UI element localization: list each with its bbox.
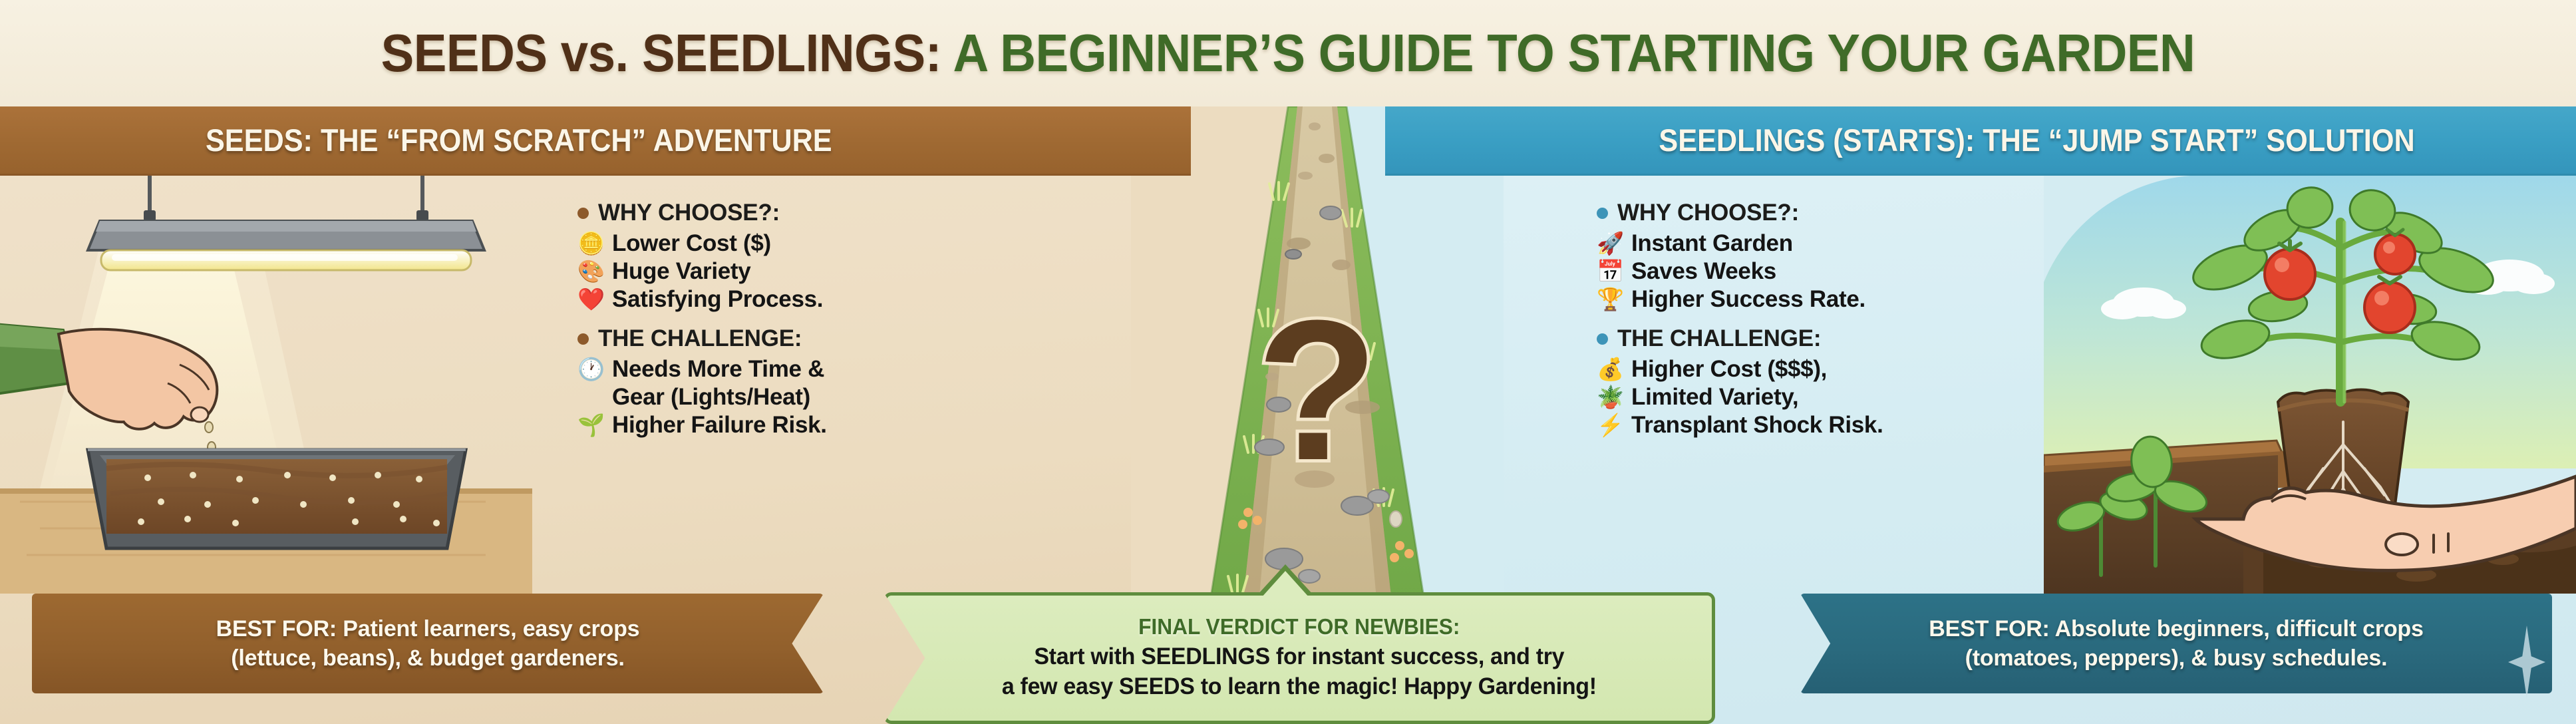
seeds-bullet-list: WHY CHOOSE?: 🪙 Lower Cost ($) 🎨 Huge Var… bbox=[577, 200, 1003, 451]
list-item-label: Lower Cost ($) bbox=[612, 230, 1003, 258]
verdict-line-2: a few easy SEEDS to learn the magic! Hap… bbox=[1002, 672, 1597, 702]
group-heading-label: THE CHALLENGE: bbox=[1617, 325, 1821, 352]
group-heading-label: WHY CHOOSE?: bbox=[598, 200, 780, 226]
seedling-icon: 🌱 bbox=[577, 411, 604, 439]
list-item-label: Higher Failure Risk. bbox=[612, 411, 1003, 439]
group-heading-row: WHY CHOOSE?: bbox=[1597, 200, 2102, 226]
seedlings-why-choose-group: WHY CHOOSE?: 🚀 Instant Garden 📅 Saves We… bbox=[1597, 200, 2102, 313]
ribbon-line-2: (lettuce, beans), & budget gardeners. bbox=[216, 643, 640, 673]
clock-icon: 🕐 bbox=[577, 355, 604, 383]
list-item: 🚀 Instant Garden bbox=[1597, 230, 2102, 258]
planter-box-icon: 🪴 bbox=[1597, 383, 1623, 411]
infographic-root: SEEDS vs. SEEDLINGS: A BEGINNER’S GUIDE … bbox=[0, 0, 2576, 724]
bullet-dot-icon bbox=[1597, 333, 1608, 345]
list-item-label: Higher Success Rate. bbox=[1631, 285, 2102, 313]
seedlings-bullet-list: WHY CHOOSE?: 🚀 Instant Garden 📅 Saves We… bbox=[1597, 200, 2102, 451]
lightning-icon: ⚡ bbox=[1597, 411, 1623, 439]
group-heading-label: THE CHALLENGE: bbox=[598, 325, 802, 352]
group-heading-row: THE CHALLENGE: bbox=[1597, 325, 2102, 352]
list-item: ❤️ Satisfying Process. bbox=[577, 285, 1003, 313]
seeds-best-for-ribbon: BEST FOR: Patient learners, easy crops (… bbox=[32, 594, 824, 693]
title-text: SEEDS vs. SEEDLINGS: A BEGINNER’S GUIDE … bbox=[381, 23, 2195, 84]
seeds-challenge-group: THE CHALLENGE: 🕐 Needs More Time & Gear … bbox=[577, 325, 1003, 439]
seed-tray-illustration bbox=[0, 176, 532, 594]
title-part-guide: A BEGINNER’S GUIDE TO STARTING YOUR GARD… bbox=[953, 23, 2195, 83]
list-item: 📅 Saves Weeks bbox=[1597, 258, 2102, 285]
ribbon-line-1: BEST FOR: Patient learners, easy crops bbox=[216, 614, 640, 643]
group-heading-label: WHY CHOOSE?: bbox=[1617, 200, 1799, 226]
question-mark-icon: ? bbox=[1256, 278, 1378, 502]
group-heading-row: THE CHALLENGE: bbox=[577, 325, 1003, 352]
list-item-label: Higher Cost ($$$), bbox=[1631, 355, 2102, 383]
list-item: 💰 Higher Cost ($$$), bbox=[1597, 355, 2102, 383]
bullet-dot-icon bbox=[577, 208, 589, 219]
verdict-title: FINAL VERDICT FOR NEWBIES: bbox=[1138, 614, 1460, 639]
list-item-label: Instant Garden bbox=[1631, 230, 2102, 258]
list-item: 🌱 Higher Failure Risk. bbox=[577, 411, 1003, 439]
rocket-icon: 🚀 bbox=[1597, 230, 1623, 257]
seedlings-challenge-group: THE CHALLENGE: 💰 Higher Cost ($$$), 🪴 Li… bbox=[1597, 325, 2102, 439]
list-item: 🏆 Higher Success Rate. bbox=[1597, 285, 2102, 313]
right-banner: SEEDLINGS (STARTS): THE “JUMP START” SOL… bbox=[1385, 106, 2576, 176]
list-item-label: Satisfying Process. bbox=[612, 285, 1003, 313]
list-item-label: Huge Variety bbox=[612, 258, 1003, 285]
title-part-seeds: SEEDS vs. SEEDLINGS: bbox=[381, 23, 941, 83]
verdict-pointer-fill bbox=[1261, 571, 1309, 598]
list-item-label: Limited Variety, bbox=[1631, 383, 2102, 411]
list-item: ⚡ Transplant Shock Risk. bbox=[1597, 411, 2102, 439]
left-banner-label: SEEDS: THE “FROM SCRATCH” ADVENTURE bbox=[206, 122, 832, 158]
list-item: 🪙 Lower Cost ($) bbox=[577, 230, 1003, 258]
list-item: 🎨 Huge Variety bbox=[577, 258, 1003, 285]
seeds-why-choose-group: WHY CHOOSE?: 🪙 Lower Cost ($) 🎨 Huge Var… bbox=[577, 200, 1003, 313]
trophy-icon: 🏆 bbox=[1597, 285, 1623, 313]
coins-stack-icon: 💰 bbox=[1597, 355, 1623, 383]
ribbon-line-2: (tomatoes, peppers), & busy schedules. bbox=[1929, 643, 2423, 673]
list-item-continuation: Gear (Lights/Heat) bbox=[577, 383, 1003, 411]
coin-icon: 🪙 bbox=[577, 230, 604, 257]
right-banner-label: SEEDLINGS (STARTS): THE “JUMP START” SOL… bbox=[1659, 122, 2415, 158]
list-item: 🕐 Needs More Time & bbox=[577, 355, 1003, 383]
list-item-label: Saves Weeks bbox=[1631, 258, 2102, 285]
verdict-line-1: Start with SEEDLINGS for instant success… bbox=[1035, 642, 1565, 672]
list-item-label: Needs More Time & bbox=[612, 355, 1003, 383]
seedling-transplant-illustration bbox=[2044, 176, 2576, 594]
list-item-label: Transplant Shock Risk. bbox=[1631, 411, 2102, 439]
seedlings-best-for-ribbon: BEST FOR: Absolute beginners, difficult … bbox=[1800, 594, 2552, 693]
final-verdict-banner: FINAL VERDICT FOR NEWBIES: Start with SE… bbox=[884, 592, 1715, 724]
group-heading-row: WHY CHOOSE?: bbox=[577, 200, 1003, 226]
heart-icon: ❤️ bbox=[577, 285, 604, 313]
palette-icon: 🎨 bbox=[577, 258, 604, 285]
list-item-label-line2: Gear (Lights/Heat) bbox=[612, 383, 1003, 411]
list-item: 🪴 Limited Variety, bbox=[1597, 383, 2102, 411]
ribbon-line-1: BEST FOR: Absolute beginners, difficult … bbox=[1929, 614, 2423, 643]
left-banner: SEEDS: THE “FROM SCRATCH” ADVENTURE bbox=[0, 106, 1191, 176]
bullet-dot-icon bbox=[1597, 208, 1608, 219]
bullet-dot-icon bbox=[577, 333, 589, 345]
page-title: SEEDS vs. SEEDLINGS: A BEGINNER’S GUIDE … bbox=[0, 0, 2576, 106]
calendar-icon: 📅 bbox=[1597, 258, 1623, 285]
